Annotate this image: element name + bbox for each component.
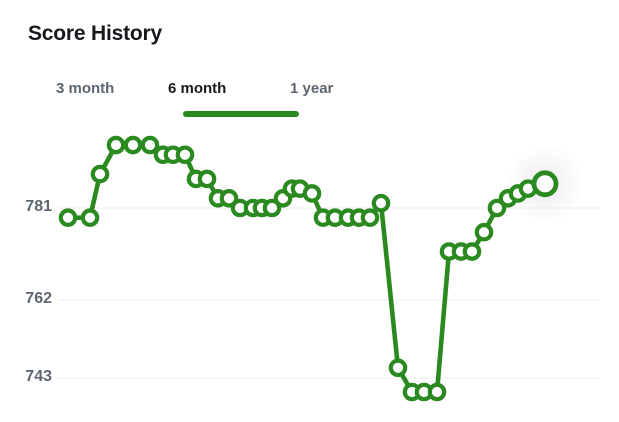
score-markers: 7797797887947947947927927927877877837837…: [61, 138, 556, 399]
score-history-card: Score History 3 month 6 month 1 year 781…: [0, 0, 619, 422]
score-marker[interactable]: 792: [178, 148, 192, 162]
score-marker[interactable]: 779: [83, 210, 97, 224]
score-marker[interactable]: 748: [391, 361, 405, 375]
score-marker[interactable]: 779: [61, 210, 75, 224]
score-marker[interactable]: 782: [374, 196, 388, 210]
score-marker-current[interactable]: 786: [534, 173, 556, 195]
score-marker[interactable]: 743: [430, 385, 444, 399]
chart-gridlines: [58, 208, 600, 378]
score-marker[interactable]: 788: [93, 167, 107, 181]
score-marker[interactable]: 784: [305, 186, 319, 200]
score-marker[interactable]: 794: [109, 138, 123, 152]
score-marker[interactable]: 787: [200, 172, 214, 186]
score-marker[interactable]: 779: [363, 210, 377, 224]
score-marker[interactable]: 772: [465, 244, 479, 258]
score-marker[interactable]: 794: [126, 138, 140, 152]
score-marker[interactable]: 776: [477, 225, 491, 239]
score-history-chart: 7797797887947947947927927927877877837837…: [0, 0, 619, 422]
